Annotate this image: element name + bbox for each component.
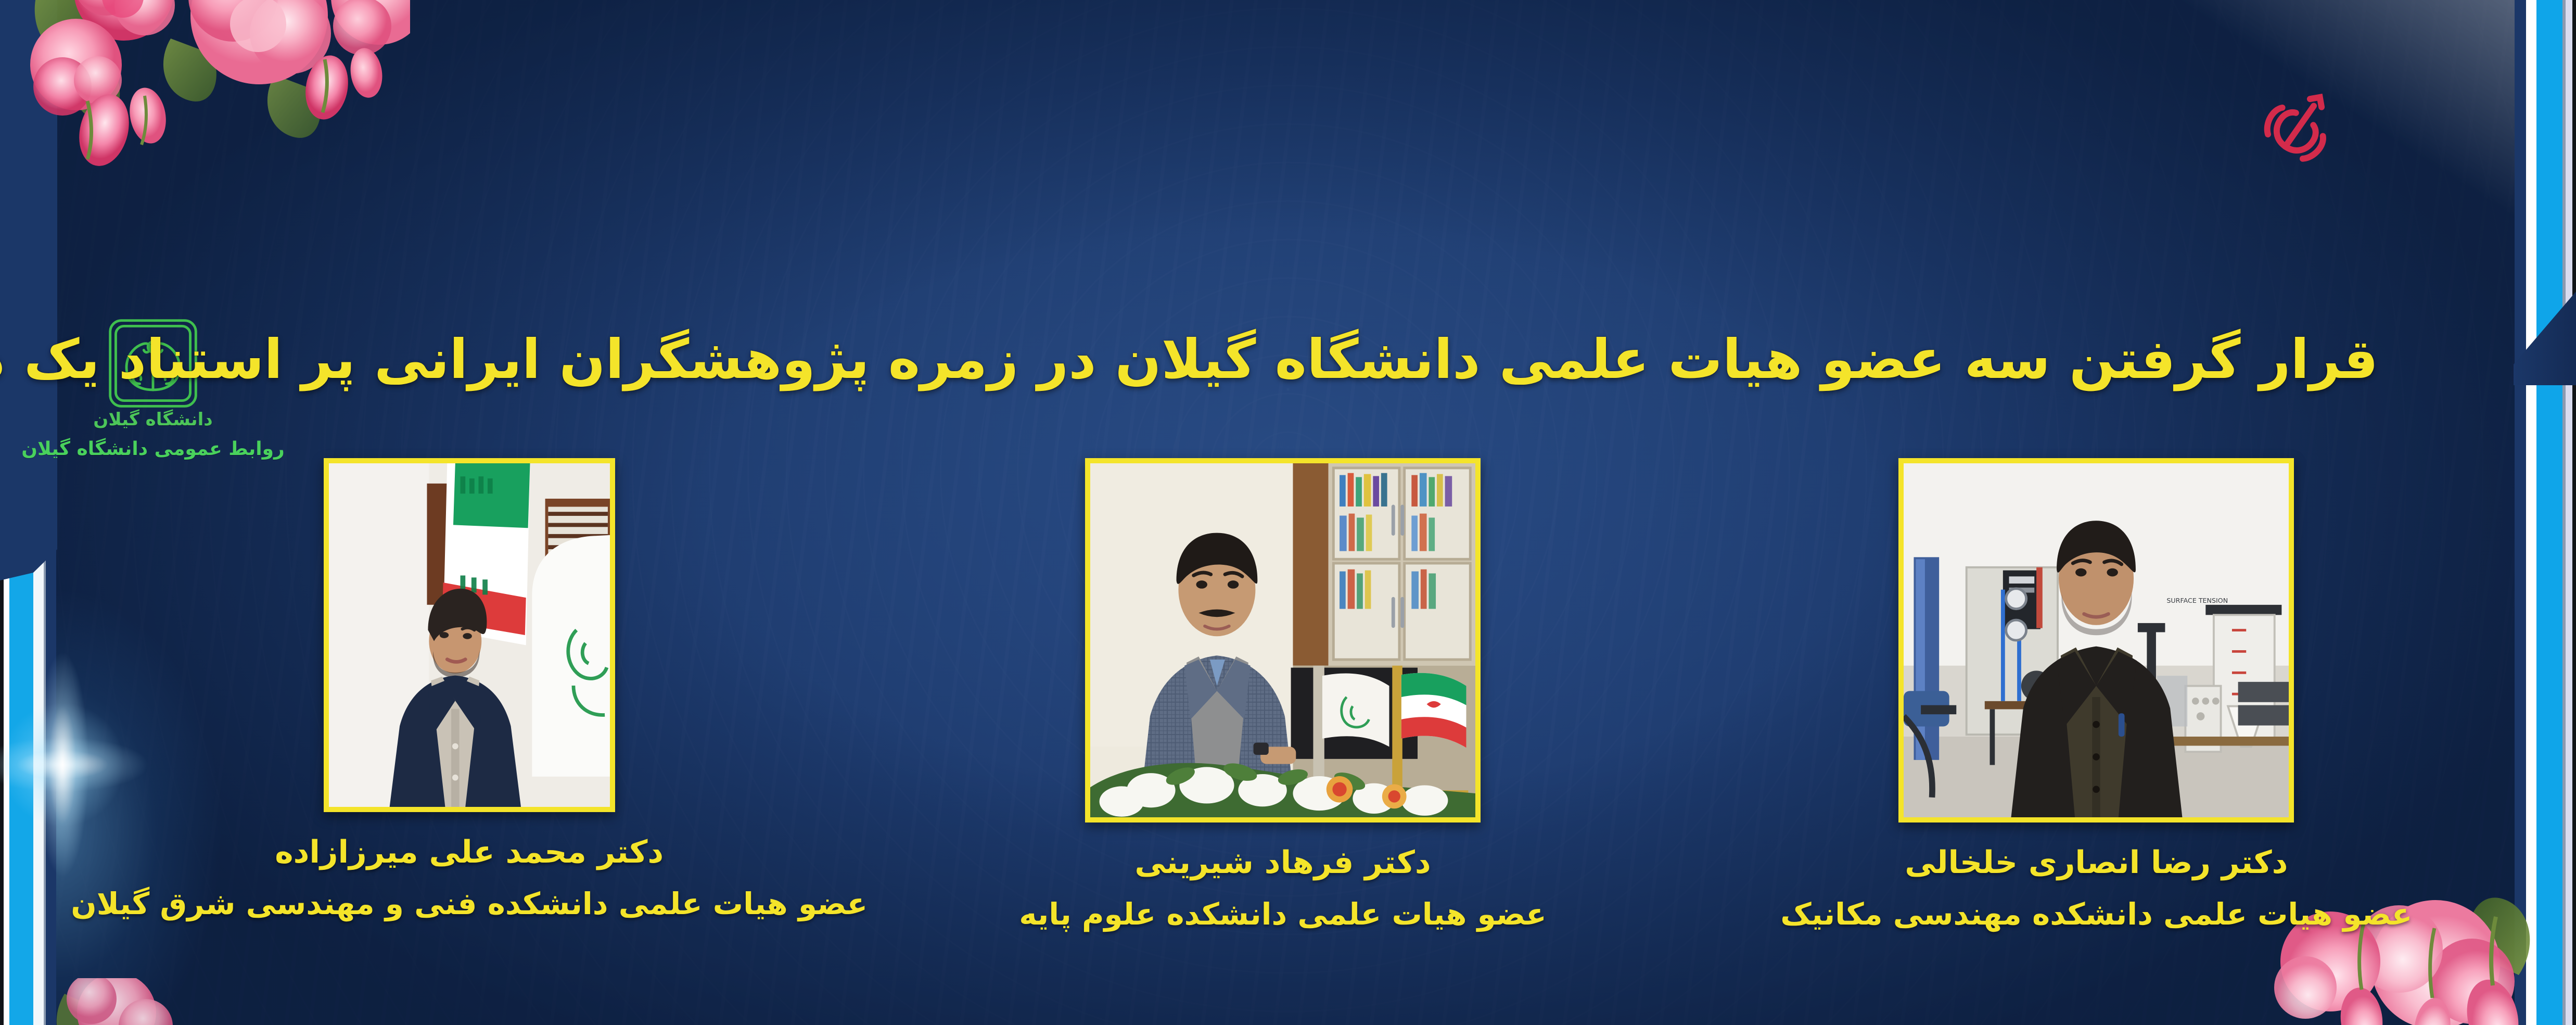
poster-canvas: دانشگاه گیلان روابط عمومی دانشگاه گیلان … [0, 0, 2576, 1025]
honoree-name: دکتر محمد علی میرزازاده [275, 834, 664, 870]
honoree-photo-frame [324, 458, 615, 812]
honoree-photo [1090, 463, 1475, 817]
honoree-role: عضو هیات علمی دانشکده مهندسی مکانیک [1780, 896, 2412, 932]
right-border-strip [2515, 0, 2576, 1025]
flag-stripes [1868, 0, 2576, 36]
honoree-photo-frame: SURFACE TENSION [1898, 458, 2294, 822]
svg-text:SURFACE TENSION: SURFACE TENSION [2167, 597, 2228, 604]
honoree-photo: SURFACE TENSION [1904, 463, 2289, 817]
public-relations-label: روابط عمومی دانشگاه گیلان [21, 438, 284, 460]
honoree-photo [329, 463, 610, 807]
left-border-top-cut [0, 0, 57, 580]
honoree-card: دکتر محمد علی میرزازاده عضو هیات علمی دا… [183, 458, 756, 921]
honorees-row: دکتر محمد علی میرزازاده عضو هیات علمی دا… [62, 458, 2503, 932]
iran-emblem-icon [2230, 67, 2360, 198]
logo-wordmark: دانشگاه گیلان [93, 409, 212, 430]
honoree-name: دکتر رضا انصاری خلخالی [1905, 844, 2288, 881]
honoree-role: عضو هیات علمی دانشکده فنی و مهندسی شرق گ… [71, 886, 868, 921]
honoree-card: دکتر فرهاد شیرینی عضو هیات علمی دانشکده … [997, 458, 1569, 932]
honoree-name: دکتر فرهاد شیرینی [1134, 844, 1431, 881]
honoree-card: SURFACE TENSION [1810, 458, 2382, 932]
page-title: قرار گرفتن سه عضو هیات علمی دانشگاه گیلا… [62, 331, 2378, 388]
honoree-role: عضو هیات علمی دانشکده علوم پایه [1019, 896, 1547, 932]
honoree-photo-frame [1085, 458, 1481, 822]
